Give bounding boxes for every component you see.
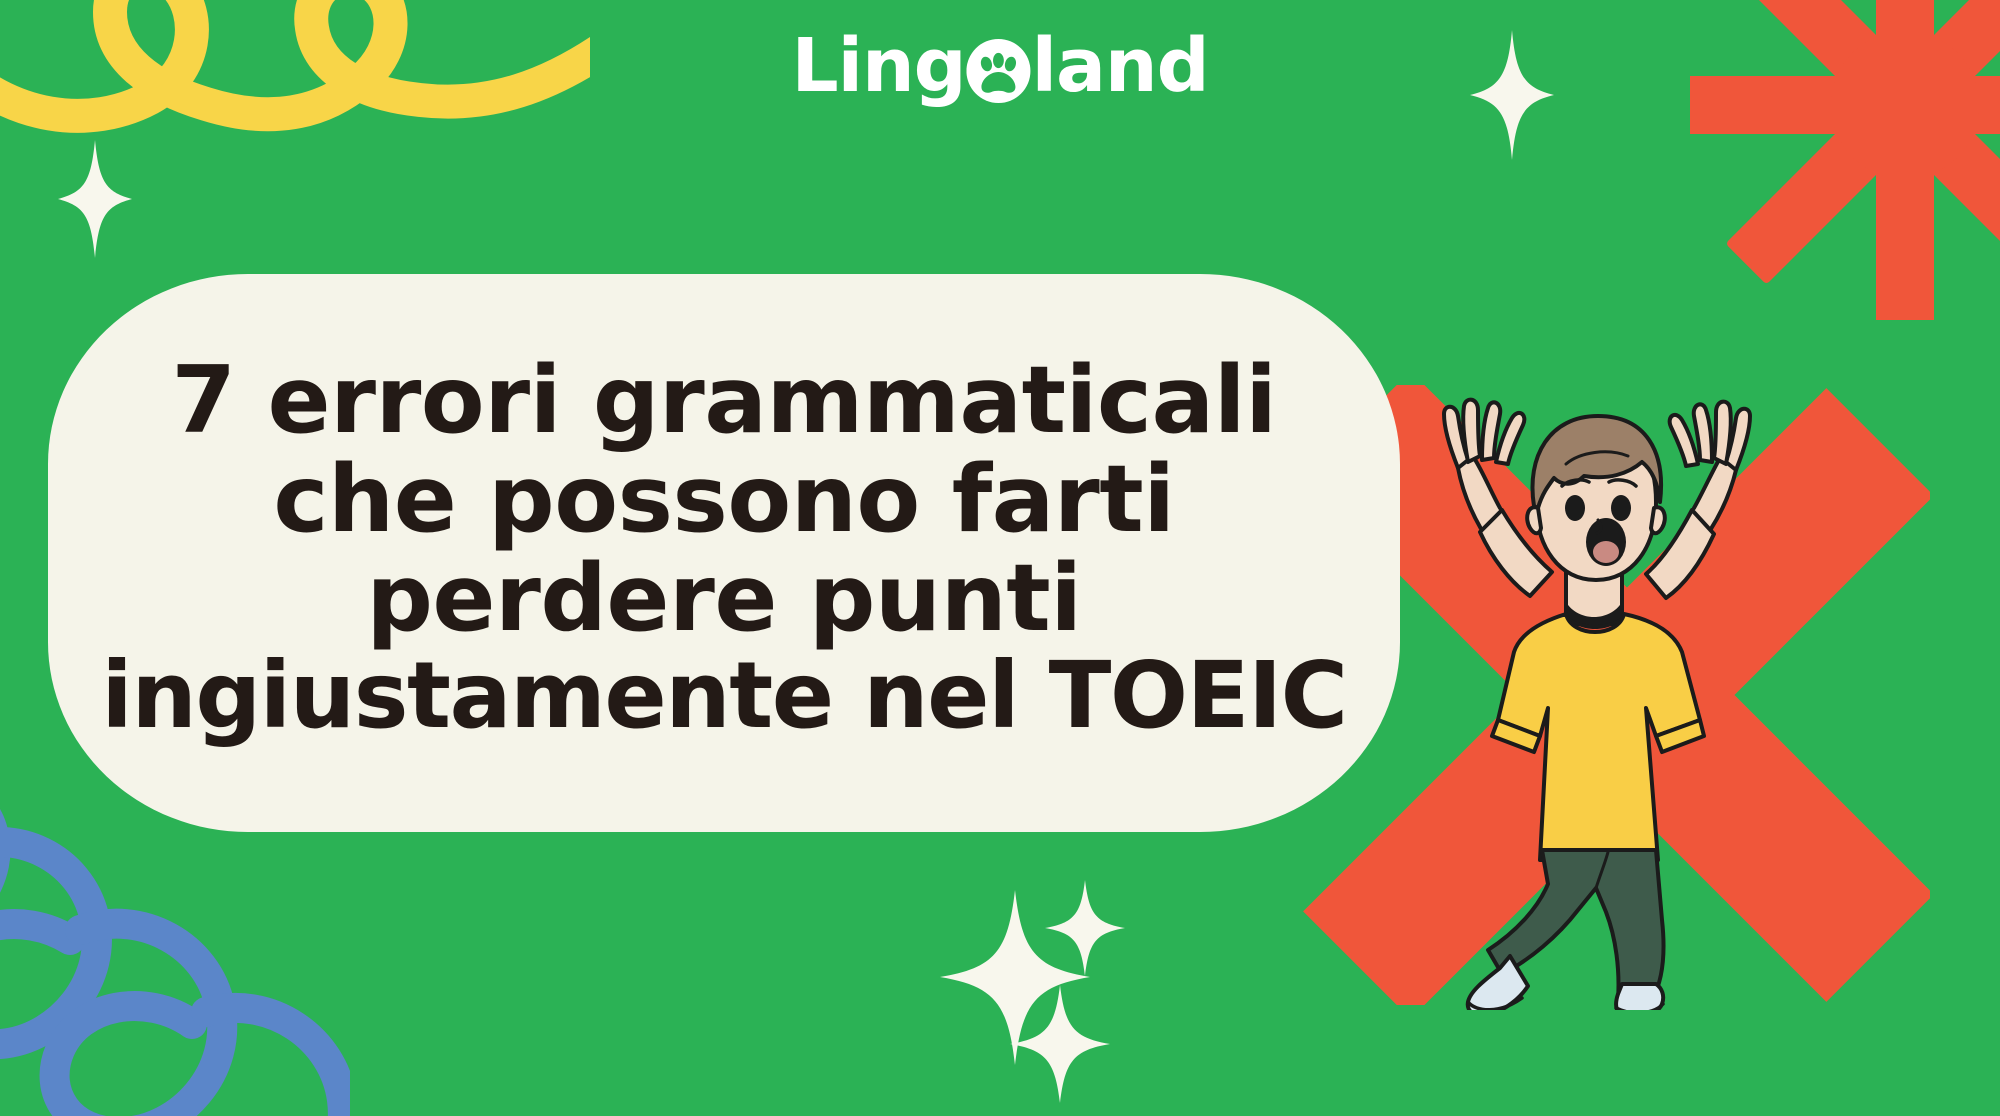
headline-line-3: perdere punti xyxy=(101,549,1346,648)
four-point-sparkle-icon xyxy=(1010,985,1110,1103)
looping-squiggle-yellow xyxy=(0,0,590,178)
paw-print-icon xyxy=(967,39,1031,103)
four-point-sparkle-icon xyxy=(58,140,132,258)
brand-name-part-2: land xyxy=(1032,29,1209,103)
shocked-man-hands-on-head-illustration xyxy=(1370,390,1820,1010)
headline-line-1: 7 errori grammaticali xyxy=(101,351,1346,450)
speech-bubble: 7 errori grammaticali che possono farti … xyxy=(48,274,1400,832)
four-point-sparkle-icon xyxy=(1045,880,1125,976)
page-title: 7 errori grammaticali che possono farti … xyxy=(101,351,1346,744)
banner-canvas: 7 errori grammaticali che possono farti … xyxy=(0,0,2000,1116)
brand-logo[interactable]: Ling land xyxy=(791,20,1208,112)
headline-line-2: che possono farti xyxy=(101,450,1346,549)
four-point-sparkle-icon xyxy=(1470,30,1554,160)
asterisk-starburst-red xyxy=(1690,0,2000,320)
four-point-sparkle-icon xyxy=(940,890,1090,1065)
brand-name-part-1: Ling xyxy=(791,29,965,103)
looping-squiggle-blue xyxy=(0,800,350,1116)
headline-line-4: ingiustamente nel TOEIC xyxy=(101,647,1346,745)
